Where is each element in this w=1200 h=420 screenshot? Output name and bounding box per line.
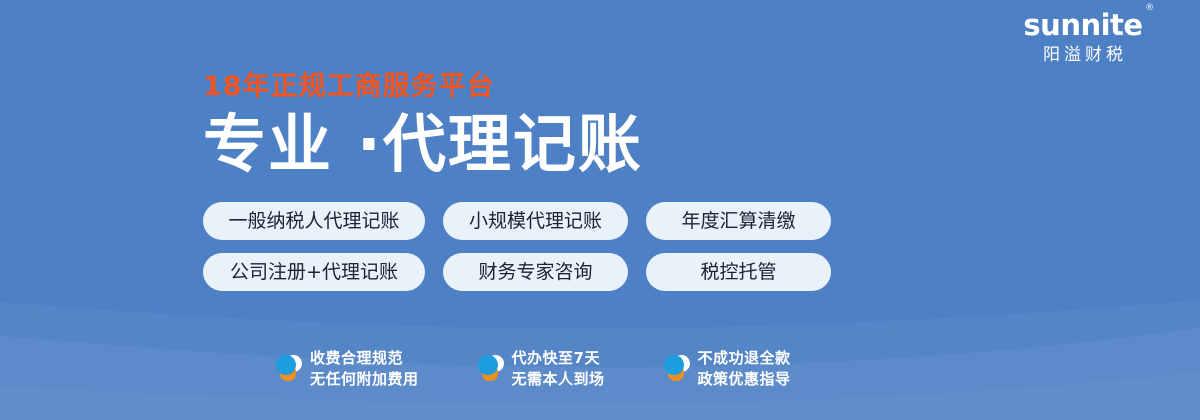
brand-logo[interactable]: sunnite ® 阳溢财税 — [988, 8, 1178, 68]
logo-wordmark-text: sunnite ® — [1023, 8, 1142, 42]
headline-block: 18年正规工商服务平台 专业 ·代理记账 — [203, 72, 643, 184]
feature-line-1: 收费合理规范 — [310, 349, 403, 367]
service-pill-row: 公司注册+代理记账 财务专家咨询 税控托管 — [203, 253, 831, 291]
balloon-icon-circle — [276, 355, 296, 375]
promo-banner: sunnite ® 阳溢财税 18年正规工商服务平台 专业 ·代理记账 一般纳税… — [0, 0, 1200, 420]
feature-line-1: 代办快至7天 — [512, 349, 600, 367]
service-pill-annual-settlement[interactable]: 年度汇算清缴 — [646, 202, 831, 240]
registered-trademark-icon: ® — [1145, 4, 1154, 13]
service-pill-company-registration-bookkeeping[interactable]: 公司注册+代理记账 — [203, 253, 425, 291]
tagline-text: 18年正规工商服务平台 — [203, 72, 643, 102]
service-pill-general-taxpayer-bookkeeping[interactable]: 一般纳税人代理记账 — [203, 202, 425, 240]
feature-line-2: 无任何附加费用 — [310, 370, 419, 388]
feature-text-block: 代办快至7天 无需本人到场 — [512, 348, 605, 390]
service-pill-tax-control-custody[interactable]: 税控托管 — [646, 253, 831, 291]
feature-text-block: 收费合理规范 无任何附加费用 — [310, 348, 419, 390]
page-title: 专业 ·代理记账 — [203, 106, 643, 184]
service-pill-group: 一般纳税人代理记账 小规模代理记账 年度汇算清缴 公司注册+代理记账 财务专家咨… — [203, 202, 831, 291]
logo-chinese-name: 阳溢财税 — [988, 42, 1178, 68]
feature-item-money-back-guarantee: 不成功退全款 政策优惠指导 — [663, 348, 791, 390]
feature-text-block: 不成功退全款 政策优惠指导 — [698, 348, 791, 390]
feature-item-fair-pricing: 收费合理规范 无任何附加费用 — [275, 348, 419, 390]
feature-item-fast-processing: 代办快至7天 无需本人到场 — [477, 348, 605, 390]
logo-wordmark-label: sunnite — [1023, 8, 1142, 42]
balloon-icon — [477, 353, 503, 385]
feature-line-2: 政策优惠指导 — [698, 370, 791, 388]
service-pill-finance-expert-consulting[interactable]: 财务专家咨询 — [443, 253, 628, 291]
feature-line-1: 不成功退全款 — [698, 349, 791, 367]
service-pill-row: 一般纳税人代理记账 小规模代理记账 年度汇算清缴 — [203, 202, 831, 240]
balloon-icon-circle — [664, 355, 684, 375]
feature-strip: 收费合理规范 无任何附加费用 代办快至7天 无需本人到场 不成功退全款 — [275, 348, 791, 390]
balloon-icon — [275, 353, 301, 385]
service-pill-small-scale-bookkeeping[interactable]: 小规模代理记账 — [443, 202, 628, 240]
balloon-icon-circle — [478, 355, 498, 375]
balloon-icon — [663, 353, 689, 385]
feature-line-2: 无需本人到场 — [512, 370, 605, 388]
